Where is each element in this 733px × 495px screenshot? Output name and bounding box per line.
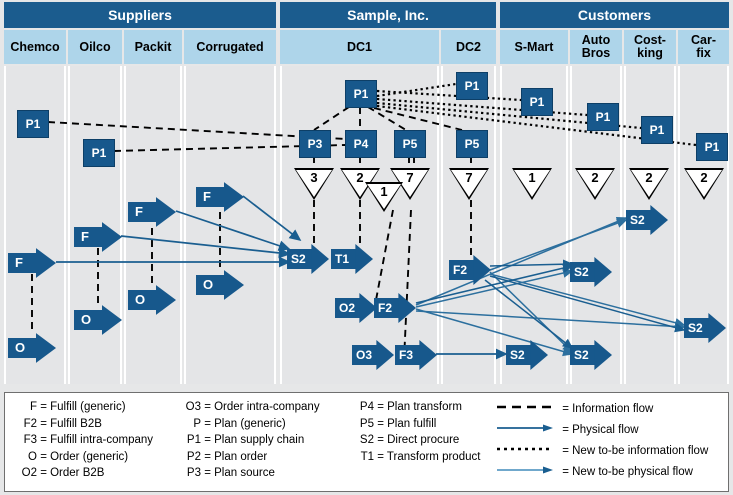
- legend-item: F = Fulfill (generic): [15, 399, 153, 416]
- column-header-carfix: Car- fix: [678, 30, 729, 64]
- legend-desc: = Plan fulfill: [377, 418, 436, 430]
- legend-panel: F = Fulfill (generic) F2 = Fulfill B2B F…: [4, 392, 729, 492]
- legend-key: P1: [177, 432, 201, 449]
- arrow-head: [530, 340, 548, 370]
- plan-box-p1-dc1[interactable]: P1: [345, 80, 377, 108]
- plan-box-label: P1: [354, 87, 369, 101]
- legend-info-flow: = Information flow: [495, 399, 653, 419]
- process-node-o-oilco[interactable]: O: [74, 305, 122, 335]
- legend-key: F2: [15, 416, 37, 433]
- legend-desc: = New to-be information flow: [562, 445, 708, 457]
- legend-key: P5: [350, 416, 374, 433]
- process-label: F: [196, 182, 211, 212]
- legend-desc: = Physical flow: [562, 424, 638, 436]
- plan-box-p3-dc1[interactable]: P3: [299, 130, 331, 158]
- legend-item: P1 = Plan supply chain: [177, 432, 320, 449]
- plan-box-p5-dc1[interactable]: P5: [394, 130, 426, 158]
- light-arrow-icon: [495, 462, 559, 482]
- column-label-autobros: Auto Bros: [582, 34, 610, 60]
- process-label: F: [8, 248, 23, 278]
- legend-new-info-flow: = New to-be information flow: [495, 441, 708, 461]
- process-label: O: [128, 285, 145, 315]
- arrow-head: [398, 293, 416, 323]
- column-label-dc1: DC1: [347, 41, 372, 54]
- dotted-line-icon: [495, 441, 559, 461]
- column-label-carfix: Car- fix: [691, 34, 716, 60]
- legend-key: O2: [15, 465, 37, 482]
- group-label-suppliers: Suppliers: [108, 7, 172, 23]
- process-node-o-corrugated[interactable]: O: [196, 270, 244, 300]
- arrow-head: [102, 305, 122, 335]
- process-label: S2: [506, 340, 525, 370]
- legend-item: P4 = Plan transform: [350, 399, 480, 416]
- lane-dc1: [280, 66, 439, 384]
- solid-arrow-icon: [495, 420, 559, 440]
- process-label: S2: [626, 205, 645, 235]
- legend-item: O2 = Order B2B: [15, 465, 153, 482]
- triangle-number: 2: [340, 170, 380, 185]
- column-label-corrugated: Corrugated: [196, 41, 263, 54]
- process-node-s2-autobros-upper[interactable]: S2: [570, 257, 612, 287]
- plan-box-p5-dc2[interactable]: P5: [456, 130, 488, 158]
- process-label: S2: [684, 313, 703, 343]
- process-node-f2-dc2[interactable]: F2: [449, 255, 491, 285]
- column-label-packit: Packit: [135, 41, 172, 54]
- arrow-head: [708, 313, 726, 343]
- inventory-triangle-carfix-2[interactable]: 2: [684, 168, 724, 200]
- process-label: O: [74, 305, 91, 335]
- legend-key: P: [177, 416, 201, 433]
- legend-desc: = Information flow: [562, 403, 653, 415]
- legend-desc: = New to-be physical flow: [562, 466, 693, 478]
- legend-column-3: P4 = Plan transform P5 = Plan fulfill S2…: [350, 399, 480, 465]
- process-node-o-chemco[interactable]: O: [8, 333, 56, 363]
- process-label: F3: [395, 340, 413, 370]
- legend-key: S2: [350, 432, 374, 449]
- legend-new-physical-flow: = New to-be physical flow: [495, 462, 693, 482]
- legend-desc: = Plan (generic): [204, 418, 286, 430]
- legend-item: F2 = Fulfill B2B: [15, 416, 153, 433]
- process-label: O: [8, 333, 25, 363]
- legend-desc: = Fulfill B2B: [40, 418, 102, 430]
- legend-desc: = Order (generic): [40, 451, 128, 463]
- arrow-head: [224, 270, 244, 300]
- arrow-head: [102, 222, 122, 252]
- arrow-head: [224, 182, 244, 212]
- plan-box-label: P4: [354, 137, 369, 151]
- process-label: T1: [331, 244, 349, 274]
- process-node-o2-dc1[interactable]: O2: [335, 293, 377, 323]
- legend-desc: = Plan source: [204, 467, 275, 479]
- plan-box-label: P1: [705, 140, 720, 154]
- column-label-dc2: DC2: [456, 41, 481, 54]
- process-label: F2: [374, 293, 392, 323]
- plan-box-label: P1: [92, 146, 107, 160]
- legend-physical-flow: = Physical flow: [495, 420, 639, 440]
- triangle-number: 3: [294, 170, 334, 185]
- plan-box-p1-costking[interactable]: P1: [641, 116, 673, 144]
- arrow-head: [594, 340, 612, 370]
- process-label: S2: [287, 244, 306, 274]
- process-node-s2-costking[interactable]: S2: [626, 205, 668, 235]
- process-node-t1-dc1[interactable]: T1: [331, 244, 373, 274]
- triangle-number: 1: [365, 184, 403, 199]
- legend-column-2: O3 = Order intra-company P = Plan (gener…: [177, 399, 320, 482]
- arrow-head: [156, 285, 176, 315]
- legend-item: P2 = Plan order: [177, 449, 320, 466]
- process-node-s2-dc1[interactable]: S2: [287, 244, 329, 274]
- triangle-number: 7: [390, 170, 430, 185]
- column-header-corrugated: Corrugated: [184, 30, 276, 64]
- legend-desc: = Transform product: [377, 451, 480, 463]
- arrow-head: [355, 244, 373, 274]
- triangle-number: 2: [575, 170, 615, 185]
- process-label: F2: [449, 255, 467, 285]
- column-label-oilco: Oilco: [79, 41, 110, 54]
- legend-key: P4: [350, 399, 374, 416]
- plan-box-p1-smart[interactable]: P1: [521, 88, 553, 116]
- legend-item: P3 = Plan source: [177, 465, 320, 482]
- column-header-oilco: Oilco: [68, 30, 122, 64]
- process-label: O3: [352, 340, 372, 370]
- legend-desc: = Direct procure: [377, 434, 459, 446]
- process-node-f-corrugated[interactable]: F: [196, 182, 244, 212]
- plan-box-label: P1: [650, 123, 665, 137]
- inventory-triangle-smart-1[interactable]: 1: [512, 168, 552, 200]
- legend-key: P2: [177, 449, 201, 466]
- triangle-number: 2: [629, 170, 669, 185]
- plan-box-p1-autobros[interactable]: P1: [587, 103, 619, 131]
- legend-key: F3: [15, 432, 37, 449]
- legend-item: P5 = Plan fulfill: [350, 416, 480, 433]
- triangle-number: 1: [512, 170, 552, 185]
- group-band-sample-inc: Sample, Inc.: [280, 2, 496, 28]
- plan-box-p4-dc1[interactable]: P4: [345, 130, 377, 158]
- arrow-head: [419, 340, 437, 370]
- legend-desc: = Order B2B: [40, 467, 104, 479]
- plan-box-p1-carfix[interactable]: P1: [696, 133, 728, 161]
- plan-box-label: P1: [530, 95, 545, 109]
- dashed-line-icon: [495, 399, 559, 419]
- plan-box-label: P1: [26, 117, 41, 131]
- arrow-head: [36, 333, 56, 363]
- arrow-head: [36, 248, 56, 278]
- column-label-chemco: Chemco: [10, 41, 59, 54]
- legend-key: P3: [177, 465, 201, 482]
- group-band-suppliers: Suppliers: [4, 2, 276, 28]
- inventory-triangle-dc2-7[interactable]: 7: [449, 168, 489, 200]
- inventory-triangle-dc1-3[interactable]: 3: [294, 168, 334, 200]
- plan-box-label: P3: [308, 137, 323, 151]
- group-band-customers: Customers: [500, 2, 729, 28]
- column-header-packit: Packit: [124, 30, 182, 64]
- plan-box-p1-dc2[interactable]: P1: [456, 72, 488, 100]
- process-label: F: [128, 197, 143, 227]
- arrow-head: [311, 244, 329, 274]
- column-header-costking: Cost- king: [624, 30, 676, 64]
- column-header-dc2: DC2: [441, 30, 496, 64]
- lane-dc2: [441, 66, 496, 384]
- scor-supply-chain-diagram: Suppliers Sample, Inc. Customers Chemco …: [0, 0, 733, 495]
- arrow-head: [594, 257, 612, 287]
- arrow-head: [473, 255, 491, 285]
- inventory-triangle-autobros-2[interactable]: 2: [575, 168, 615, 200]
- process-node-s2-smart[interactable]: S2: [506, 340, 548, 370]
- triangle-number: 7: [449, 170, 489, 185]
- column-label-costking: Cost- king: [634, 34, 666, 60]
- process-node-f-packit[interactable]: F: [128, 197, 176, 227]
- process-label: S2: [570, 257, 589, 287]
- process-label: O2: [335, 293, 355, 323]
- group-label-sample-inc: Sample, Inc.: [347, 7, 429, 23]
- arrow-head: [376, 340, 394, 370]
- process-node-o3-dc1[interactable]: O3: [352, 340, 394, 370]
- legend-key: O3: [177, 399, 201, 416]
- group-label-customers: Customers: [578, 7, 651, 23]
- legend-desc: = Fulfill intra-company: [40, 434, 153, 446]
- legend-item: S2 = Direct procure: [350, 432, 480, 449]
- plan-box-label: P5: [465, 137, 480, 151]
- legend-desc: = Plan transform: [377, 401, 462, 413]
- process-node-s2-autobros-lower[interactable]: S2: [570, 340, 612, 370]
- legend-item: F3 = Fulfill intra-company: [15, 432, 153, 449]
- column-header-chemco: Chemco: [4, 30, 66, 64]
- process-label: F: [74, 222, 89, 252]
- column-header-dc1: DC1: [280, 30, 439, 64]
- legend-key: T1: [350, 449, 374, 466]
- lane-corrugated: [184, 66, 276, 384]
- column-header-autobros: Auto Bros: [570, 30, 622, 64]
- process-node-f2-dc1[interactable]: F2: [374, 293, 416, 323]
- inventory-triangle-costking-2[interactable]: 2: [629, 168, 669, 200]
- plan-box-label: P1: [465, 79, 480, 93]
- process-node-f-oilco[interactable]: F: [74, 222, 122, 252]
- legend-desc: = Order intra-company: [204, 401, 319, 413]
- legend-key: O: [15, 449, 37, 466]
- process-label: S2: [570, 340, 589, 370]
- process-node-o-packit[interactable]: O: [128, 285, 176, 315]
- process-node-f-chemco[interactable]: F: [8, 248, 56, 278]
- inventory-triangle-dc1-1[interactable]: 1: [365, 182, 403, 212]
- legend-desc: = Plan order: [204, 451, 267, 463]
- legend-item: O = Order (generic): [15, 449, 153, 466]
- plan-box-label: P5: [403, 137, 418, 151]
- plan-box-p1-oilco[interactable]: P1: [83, 139, 115, 167]
- process-node-f3-dc1[interactable]: F3: [395, 340, 437, 370]
- legend-desc: = Fulfill (generic): [40, 401, 125, 413]
- legend-item: T1 = Transform product: [350, 449, 480, 466]
- column-header-smart: S-Mart: [500, 30, 568, 64]
- legend-item: O3 = Order intra-company: [177, 399, 320, 416]
- column-label-smart: S-Mart: [515, 41, 554, 54]
- legend-key: F: [15, 399, 37, 416]
- process-label: O: [196, 270, 213, 300]
- arrow-head: [156, 197, 176, 227]
- legend-item: P = Plan (generic): [177, 416, 320, 433]
- process-node-s2-carfix[interactable]: S2: [684, 313, 726, 343]
- arrow-head: [650, 205, 668, 235]
- triangle-number: 2: [684, 170, 724, 185]
- legend-desc: = Plan supply chain: [204, 434, 304, 446]
- plan-box-label: P1: [596, 110, 611, 124]
- legend-column-1: F = Fulfill (generic) F2 = Fulfill B2B F…: [15, 399, 153, 482]
- plan-box-p1-chemco[interactable]: P1: [17, 110, 49, 138]
